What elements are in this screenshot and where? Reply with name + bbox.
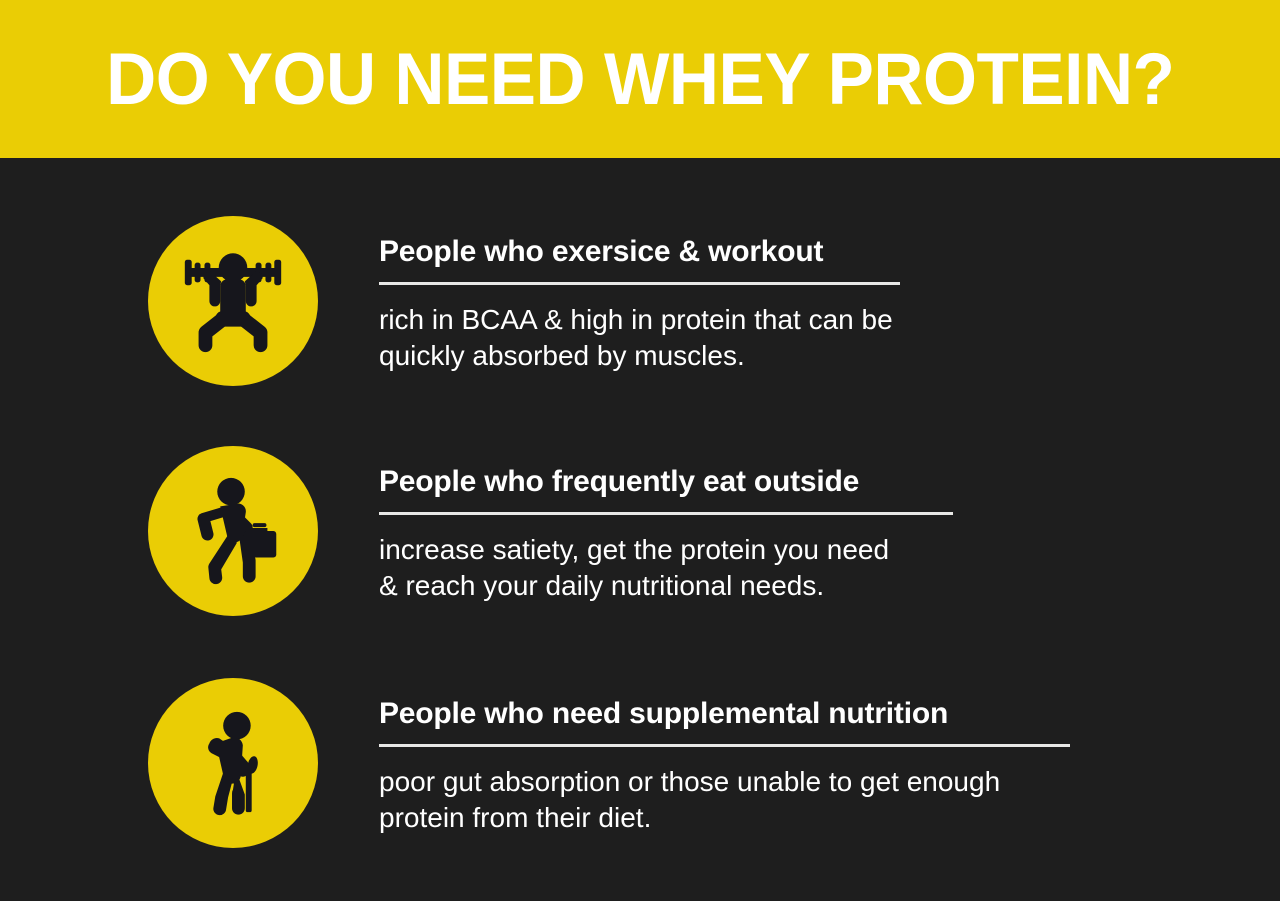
- content-area: People who exersice & workout rich in BC…: [0, 158, 1280, 901]
- weightlifter-squat-icon: [174, 242, 292, 360]
- icon-badge-supplemental-nutrition: [148, 678, 318, 848]
- page-title: DO YOU NEED WHEY PROTEIN?: [106, 43, 1174, 116]
- section-body: increase satiety, get the protein you ne…: [379, 532, 889, 606]
- section-heading: People who frequently eat outside: [379, 466, 859, 498]
- section-eat-outside: People who frequently eat outside increa…: [0, 446, 1280, 616]
- section-exercise: People who exersice & workout rich in BC…: [0, 216, 1280, 386]
- text-column-supplemental-nutrition: People who need supplemental nutrition p…: [379, 678, 1070, 837]
- icon-badge-eat-outside: [148, 446, 318, 616]
- section-body: poor gut absorption or those unable to g…: [379, 764, 1000, 838]
- section-divider: [379, 282, 900, 285]
- header-banner: DO YOU NEED WHEY PROTEIN?: [0, 0, 1280, 158]
- section-supplemental-nutrition: People who need supplemental nutrition p…: [0, 678, 1280, 848]
- walking-businessperson-briefcase-icon: [174, 472, 292, 590]
- text-column-eat-outside: People who frequently eat outside increa…: [379, 446, 953, 605]
- section-divider: [379, 512, 953, 515]
- elderly-person-with-cane-icon: [174, 704, 292, 822]
- section-body: rich in BCAA & high in protein that can …: [379, 302, 893, 376]
- text-column-exercise: People who exersice & workout rich in BC…: [379, 216, 900, 375]
- icon-badge-exercise: [148, 216, 318, 386]
- section-heading: People who exersice & workout: [379, 236, 823, 268]
- section-heading: People who need supplemental nutrition: [379, 698, 948, 730]
- section-divider: [379, 744, 1070, 747]
